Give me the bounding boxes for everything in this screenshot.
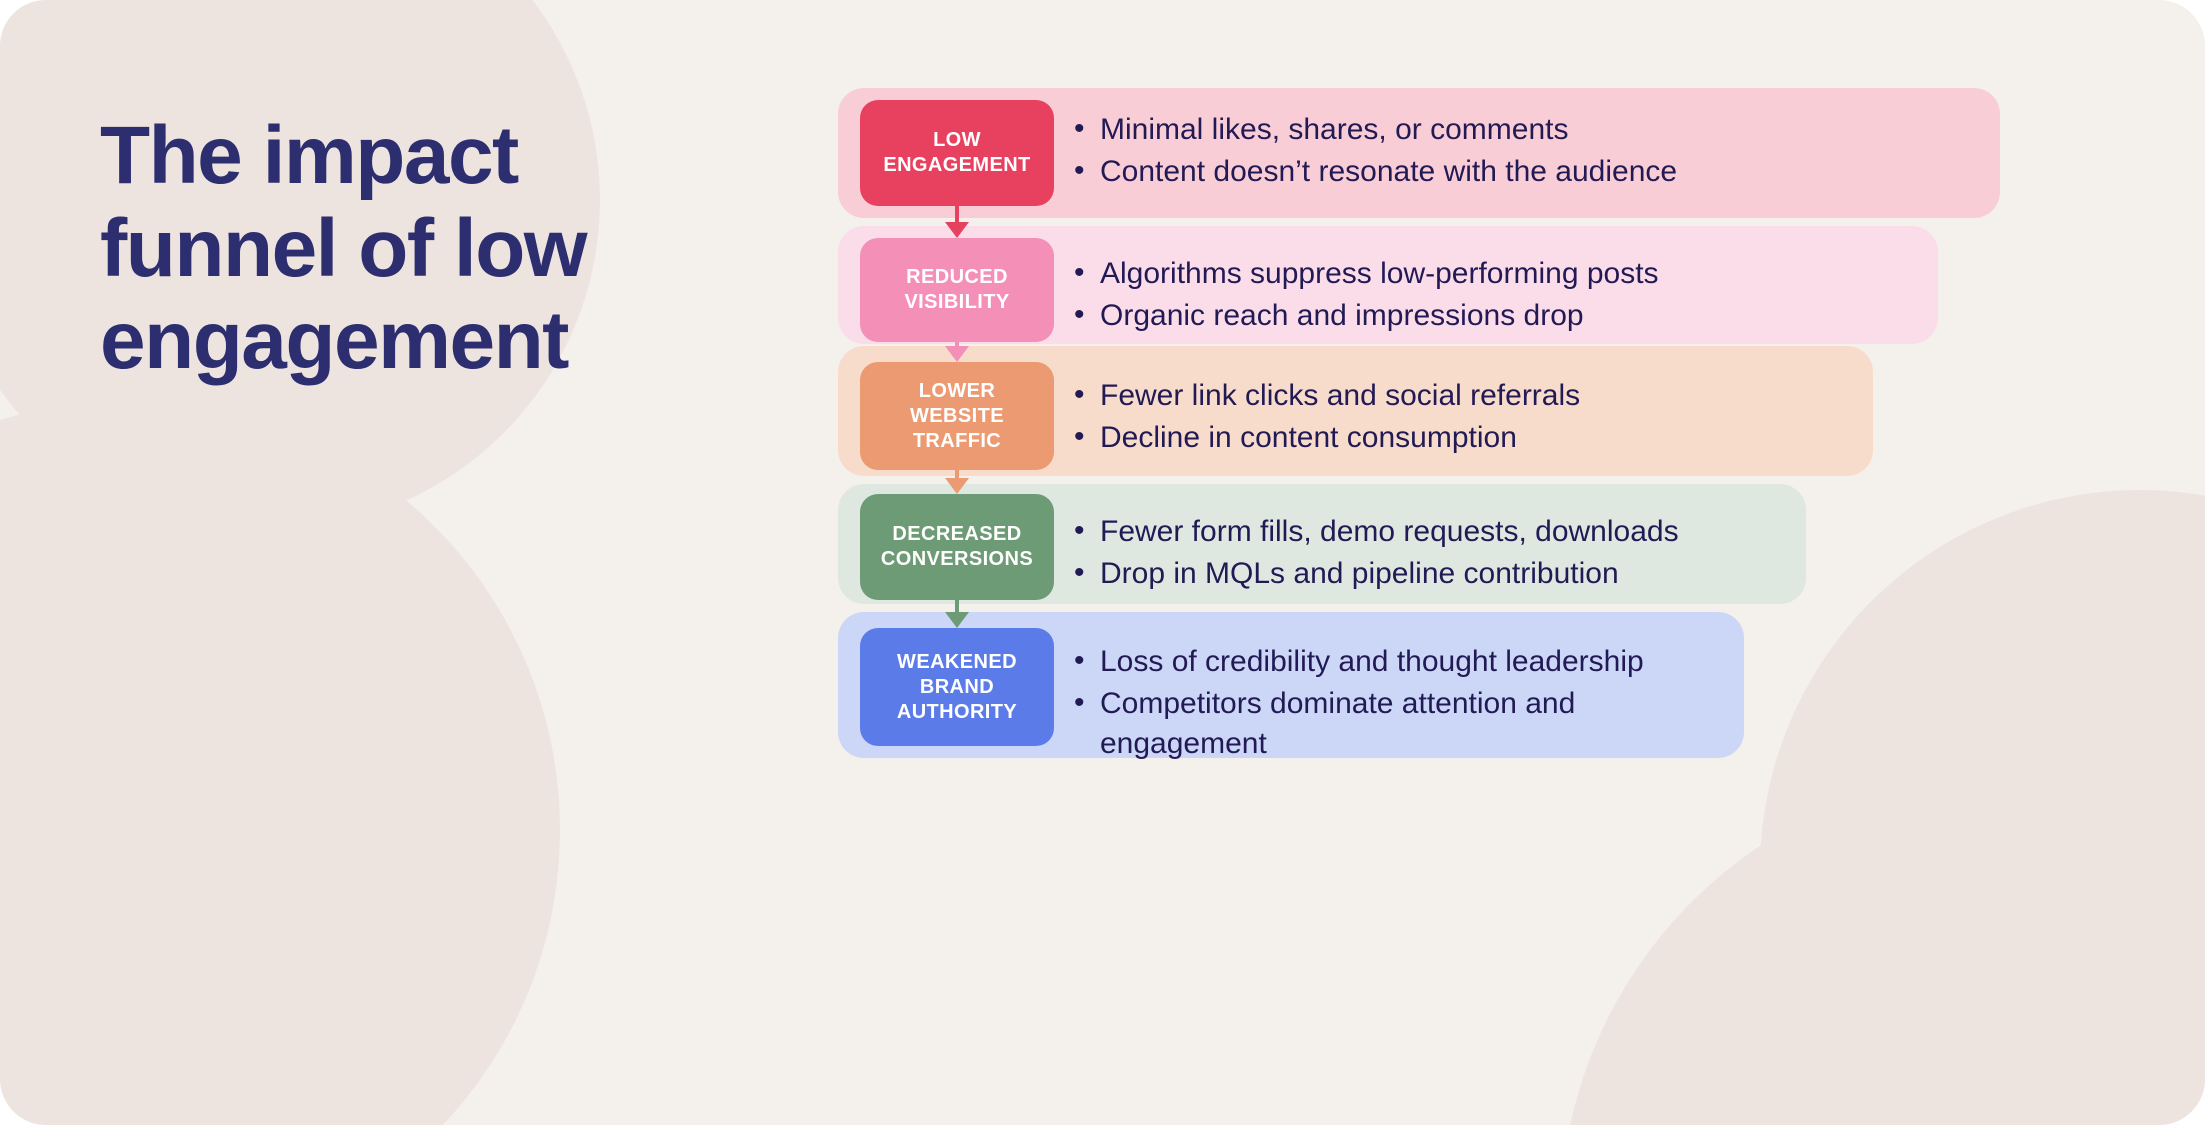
funnel-stage-label: LOWER WEBSITE TRAFFIC <box>910 379 1004 454</box>
list-item: Fewer form fills, demo requests, downloa… <box>1070 512 1788 552</box>
list-item: Fewer link clicks and social referrals <box>1070 376 1855 416</box>
list-item: Organic reach and impressions drop <box>1070 296 1920 336</box>
funnel-stage-chip[interactable]: REDUCED VISIBILITY <box>860 238 1054 342</box>
funnel-stage-chip[interactable]: LOWER WEBSITE TRAFFIC <box>860 362 1054 470</box>
list-item: Loss of credibility and thought leadersh… <box>1070 642 1726 682</box>
funnel-stage-bullet-list: Fewer link clicks and social referralsDe… <box>1070 376 1855 460</box>
funnel-stage-bullet-list: Minimal likes, shares, or commentsConten… <box>1070 110 1982 194</box>
list-item: Content doesn’t resonate with the audien… <box>1070 152 1982 192</box>
arrow-down-icon <box>941 600 973 628</box>
decorative-blob-right-lower <box>1560 770 2205 1125</box>
funnel-stage-label: LOW ENGAGEMENT <box>883 128 1030 178</box>
infographic-canvas: The impact funnel of low engagement LOW … <box>0 0 2205 1125</box>
funnel-stage-label: DECREASED CONVERSIONS <box>881 522 1033 572</box>
decorative-blob-left-lower <box>0 400 560 1125</box>
funnel-stage-bullet-list: Algorithms suppress low-performing posts… <box>1070 254 1920 338</box>
funnel-stage-bullet-list: Fewer form fills, demo requests, downloa… <box>1070 512 1788 596</box>
funnel-stage-chip[interactable]: DECREASED CONVERSIONS <box>860 494 1054 600</box>
list-item: Minimal likes, shares, or comments <box>1070 110 1982 150</box>
list-item: Algorithms suppress low-performing posts <box>1070 254 1920 294</box>
funnel-stage-chip[interactable]: WEAKENED BRAND AUTHORITY <box>860 628 1054 746</box>
arrow-down-icon <box>941 206 973 238</box>
page-title: The impact funnel of low engagement <box>100 110 720 388</box>
arrow-down-icon <box>941 342 973 362</box>
list-item: Decline in content consumption <box>1070 418 1855 458</box>
funnel-stage-label: WEAKENED BRAND AUTHORITY <box>897 650 1017 725</box>
list-item: Competitors dominate attention and engag… <box>1070 684 1726 764</box>
funnel-stage-label: REDUCED VISIBILITY <box>904 265 1009 315</box>
list-item: Drop in MQLs and pipeline contribution <box>1070 554 1788 594</box>
funnel-stage-chip[interactable]: LOW ENGAGEMENT <box>860 100 1054 206</box>
arrow-down-icon <box>941 470 973 494</box>
funnel-stage-bullet-list: Loss of credibility and thought leadersh… <box>1070 642 1726 766</box>
